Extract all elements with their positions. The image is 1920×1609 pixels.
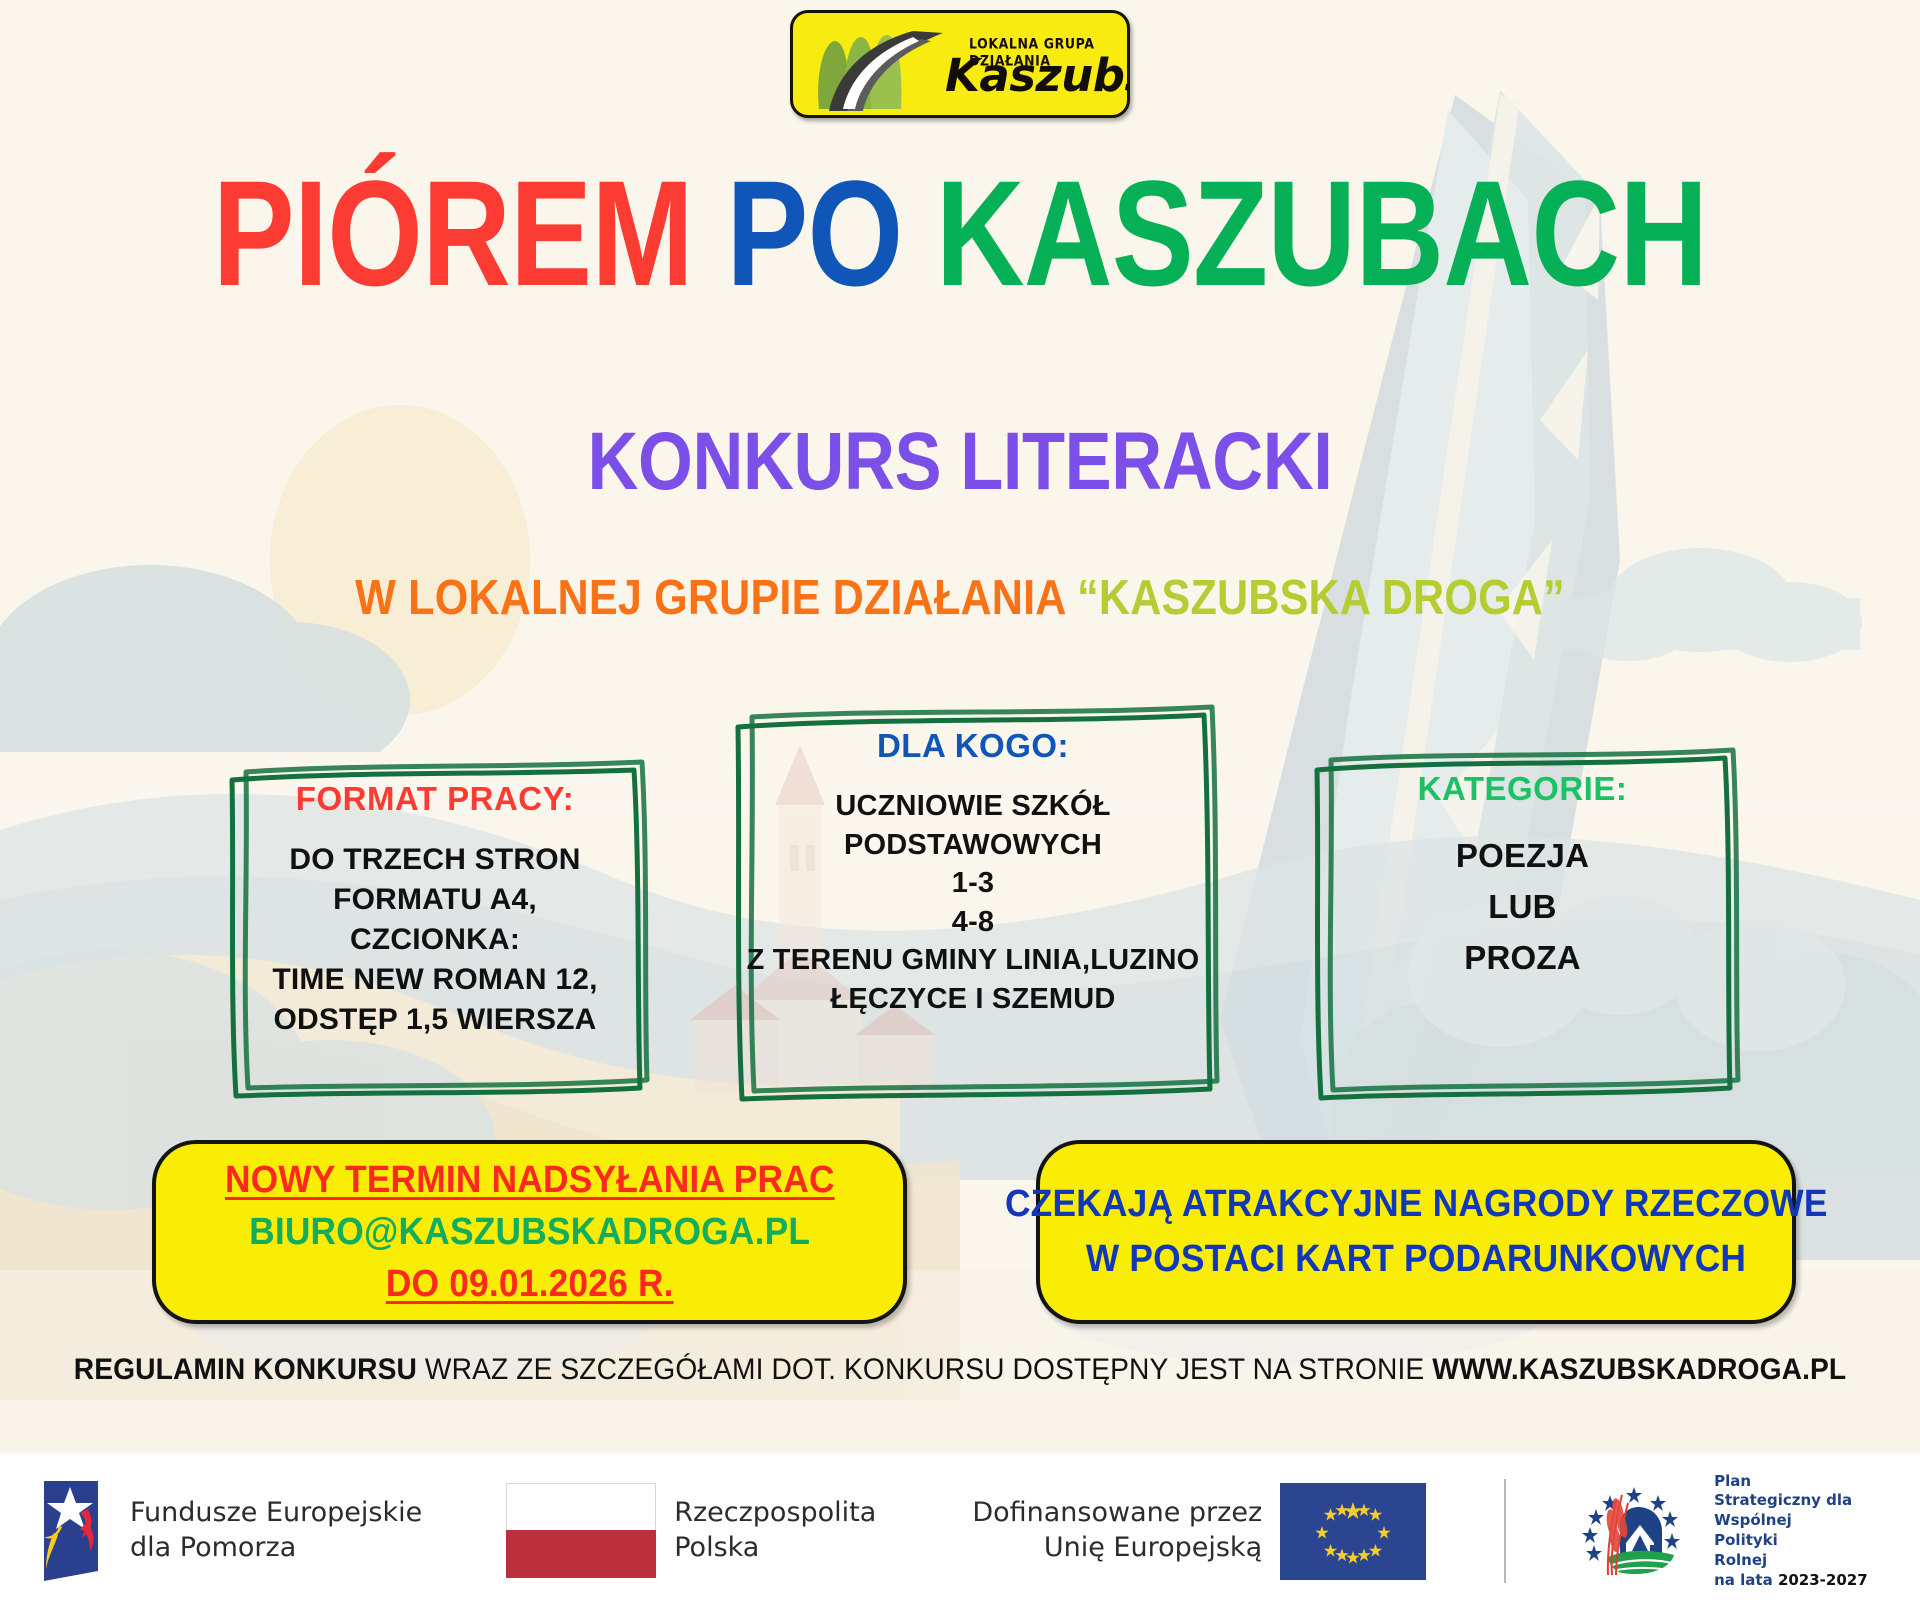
deadline-banner[interactable]: NOWY TERMIN NADSYŁANIA PRAC BIURO@KASZUB… [152, 1140, 907, 1324]
wpr-l5-rest: olnej [1726, 1551, 1767, 1569]
title-part-piorem: PIÓREM [213, 149, 727, 317]
tagline: W LOKALNEJ GRUPIE DZIAŁANIA “KASZUBSKA D… [115, 570, 1805, 626]
box-title-dlakogo: DLA KOGO: [877, 727, 1069, 765]
regulations-middle: WRAZ ZE SZCZEGÓŁAMI DOT. KONKURSU DOSTĘP… [417, 1353, 1432, 1386]
box-line: TIME NEW ROMAN 12, [272, 960, 597, 1000]
wpr-l2-initial: S [1714, 1491, 1725, 1509]
polska-line-2: Polska [674, 1532, 759, 1563]
poster-root: LOKALNA GRUPA DZIAŁANIA Kaszubska Droga … [0, 0, 1920, 1609]
box-line: PROZA [1456, 932, 1589, 983]
info-box-dlakogo: DLA KOGO: UCZNIOWIE SZKÓŁ PODSTAWOWYCH 1… [718, 697, 1228, 1114]
box-line: LUB [1456, 881, 1589, 932]
wpr-l6-prefix: na lata [1714, 1571, 1778, 1589]
wpr-l1-initial: P [1714, 1472, 1725, 1490]
logo-fundusze-europejskie: Fundusze Europejskie dla Pomorza [36, 1479, 422, 1583]
box-body-format: DO TRZECH STRON FORMATU A4, CZCIONKA: TI… [272, 840, 597, 1039]
deadline-date: DO 09.01.2026 R. [386, 1263, 674, 1306]
deadline-heading: NOWY TERMIN NADSYŁANIA PRAC [225, 1159, 835, 1202]
wpr-years: 2023-2027 [1778, 1571, 1868, 1589]
info-box-format: FORMAT PRACY: DO TRZECH STRON FORMATU A4… [210, 750, 660, 1110]
box-line: ODSTĘP 1,5 WIERSZA [272, 1000, 597, 1040]
wpr-l4-rest: olityki [1725, 1531, 1778, 1549]
eu-flag-icon [1280, 1483, 1426, 1580]
box-line: POEZJA [1456, 830, 1589, 881]
box-line: FORMATU A4, [272, 880, 597, 920]
box-line: UCZNIOWIE SZKÓŁ [747, 787, 1200, 826]
logo-rzeczpospolita-polska: Rzeczpospolita Polska [506, 1483, 876, 1579]
funding-footer: Fundusze Europejskie dla Pomorza Rzeczpo… [0, 1453, 1920, 1609]
wpr-l4-initial: P [1714, 1531, 1725, 1549]
box-title-kategorie: KATEGORIE: [1418, 770, 1628, 808]
wpr-l3-rest: spólnej [1731, 1511, 1792, 1529]
logo-main-text: Kaszubska Droga [945, 49, 1130, 102]
box-line: Z TERENU GMINY LINIA,LUZINO [747, 941, 1200, 980]
regulations-website[interactable]: WWW.KASZUBSKADROGA.PL [1432, 1353, 1846, 1386]
logo-unia-europejska: Dofinansowane przez Unię Europejską [972, 1483, 1426, 1580]
title-part-kaszubach: KASZUBACH [936, 149, 1708, 317]
contact-email[interactable]: BIURO@KASZUBSKADROGA.PL [249, 1211, 810, 1254]
polska-label: Rzeczpospolita Polska [674, 1496, 876, 1565]
box-line: DO TRZECH STRON [272, 840, 597, 880]
polska-line-1: Rzeczpospolita [674, 1497, 876, 1528]
fundusze-line-2: dla Pomorza [130, 1532, 296, 1563]
box-line: 1-3 [747, 864, 1200, 903]
wpr-l5-initial: R [1714, 1551, 1726, 1569]
box-line: CZCIONKA: [272, 920, 597, 960]
lgd-logo[interactable]: LOKALNA GRUPA DZIAŁANIA Kaszubska Droga [790, 10, 1130, 118]
unia-label: Dofinansowane przez Unię Europejską [972, 1496, 1262, 1565]
unia-line-1: Dofinansowane przez [972, 1497, 1262, 1528]
prizes-banner[interactable]: CZEKAJĄ ATRAKCYJNE NAGRODY RZECZOWE W PO… [1036, 1140, 1796, 1324]
wpr-l1-rest: lan [1725, 1472, 1751, 1490]
wpr-label: Plan Strategiczny dla Wspólnej Polityki … [1714, 1472, 1868, 1591]
regulations-note: REGULAMIN KONKURSU WRAZ ZE SZCZEGÓŁAMI D… [58, 1353, 1863, 1387]
poland-flag-icon [506, 1483, 656, 1579]
page-title: PIÓREM PO KASZUBACH [173, 160, 1747, 307]
subtitle: KONKURS LITERACKI [134, 415, 1785, 509]
unia-line-2: Unię Europejską [1044, 1532, 1262, 1563]
tagline-part-name: “KASZUBSKA DROGA” [1077, 571, 1565, 625]
tagline-part-org: W LOKALNEJ GRUPIE DZIAŁANIA [355, 571, 1077, 625]
wpr-emblem-icon [1578, 1479, 1696, 1583]
logo-plate: LOKALNA GRUPA DZIAŁANIA Kaszubska Droga [790, 10, 1130, 118]
wpr-l3-initial: W [1714, 1511, 1731, 1529]
wpr-l2-rest: trategiczny dla [1725, 1491, 1852, 1509]
footer-divider [1504, 1479, 1506, 1583]
box-line: 4-8 [747, 903, 1200, 942]
regulations-bold-start: REGULAMIN KONKURSU [74, 1353, 417, 1386]
fundusze-label: Fundusze Europejskie dla Pomorza [130, 1496, 422, 1565]
title-part-po: PO [726, 149, 935, 317]
box-body-dlakogo: UCZNIOWIE SZKÓŁ PODSTAWOWYCH 1-3 4-8 Z T… [747, 787, 1200, 1018]
box-line: PODSTAWOWYCH [747, 826, 1200, 865]
box-body-kategorie: POEZJA LUB PROZA [1456, 830, 1589, 983]
info-box-kategorie: KATEGORIE: POEZJA LUB PROZA [1295, 740, 1750, 1112]
box-title-format: FORMAT PRACY: [296, 780, 574, 818]
fundusze-line-1: Fundusze Europejskie [130, 1497, 422, 1528]
box-line: ŁĘCZYCE I SZEMUD [747, 980, 1200, 1019]
prizes-line-2: W POSTACI KART PODARUNKOWYCH [1086, 1232, 1746, 1287]
prizes-line-1: CZEKAJĄ ATRAKCYJNE NAGRODY RZECZOWE [1005, 1177, 1828, 1232]
fundusze-europejskie-icon [36, 1479, 112, 1583]
logo-plan-strategiczny-wpr: Plan Strategiczny dla Wspólnej Polityki … [1578, 1472, 1868, 1591]
